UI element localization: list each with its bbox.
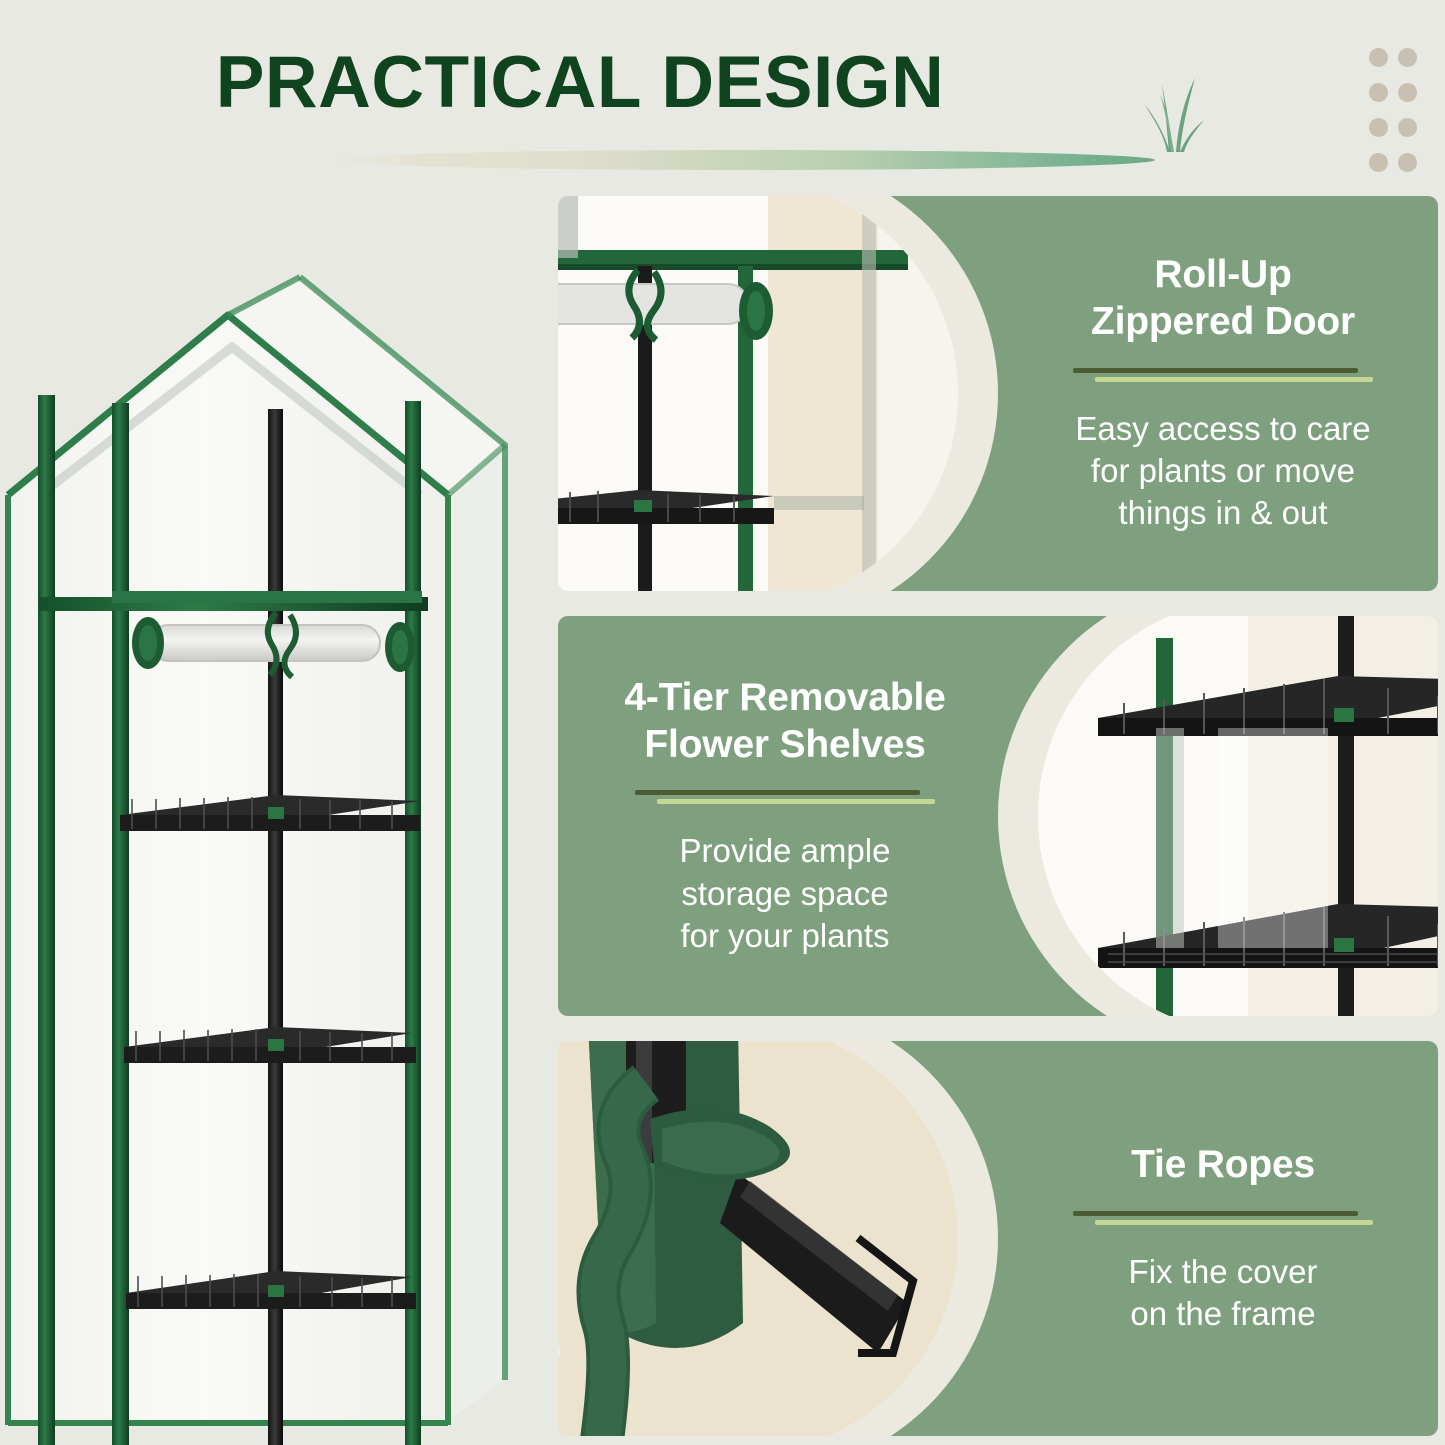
image-clip xyxy=(558,1041,958,1436)
divider-line-dark xyxy=(1073,1211,1358,1216)
card-heading: 4-Tier Removable Flower Shelves xyxy=(624,675,945,769)
feature-card-tie-ropes[interactable]: Tie Ropes Fix the cover on the frame xyxy=(558,1041,1438,1436)
divider-line-light xyxy=(1095,377,1373,382)
divider-line-dark xyxy=(1073,368,1358,373)
feature-card-roll-up-zippered-door[interactable]: Roll-Up Zippered Door Easy access to car… xyxy=(558,196,1438,591)
card-heading-line2: Zippered Door xyxy=(1091,300,1355,343)
feature-card-4-tier-removable-flower-shelves[interactable]: 4-Tier Removable Flower Shelves Provide … xyxy=(558,616,1438,1016)
card-body: Fix the cover on the frame xyxy=(1129,1251,1318,1335)
card-body-line1: Provide ample xyxy=(680,832,891,869)
dot-grid-decoration xyxy=(1369,48,1427,188)
card-body-line1: Fix the cover xyxy=(1129,1253,1318,1290)
feature-text-4-tier-removable-flower-shelves: 4-Tier Removable Flower Shelves Provide … xyxy=(576,616,994,1016)
card-heading: Tie Ropes xyxy=(1131,1142,1315,1189)
divider-line-light xyxy=(657,799,935,804)
card-body-line2: for plants or move xyxy=(1091,452,1355,489)
feature-image-4-tier-removable-flower-shelves xyxy=(978,616,1438,1016)
card-body-line2: storage space xyxy=(681,875,888,912)
card-heading-line1: 4-Tier Removable xyxy=(624,676,945,719)
card-body: Provide ample storage space for your pla… xyxy=(680,830,891,957)
page-header: PRACTICAL DESIGN xyxy=(0,0,1445,190)
feature-text-roll-up-zippered-door: Roll-Up Zippered Door Easy access to car… xyxy=(1014,196,1432,591)
divider-line-light xyxy=(1095,1220,1373,1225)
image-clip xyxy=(558,196,958,591)
image-clip xyxy=(1038,616,1438,1016)
card-body-line3: things in & out xyxy=(1118,494,1327,531)
title-underline xyxy=(335,150,1155,170)
card-divider xyxy=(1073,1211,1373,1225)
card-body-line2: on the frame xyxy=(1130,1295,1315,1332)
card-heading-line1: Tie Ropes xyxy=(1131,1143,1315,1186)
card-body-line3: for your plants xyxy=(680,917,889,954)
card-heading-line1: Roll-Up xyxy=(1154,253,1291,296)
card-heading: Roll-Up Zippered Door xyxy=(1091,252,1355,346)
mini-greenhouse-product-photo xyxy=(0,195,545,1445)
feature-image-tie-ropes xyxy=(558,1041,1018,1436)
divider-line-dark xyxy=(635,790,920,795)
card-body: Easy access to care for plants or move t… xyxy=(1075,408,1370,535)
page-title: PRACTICAL DESIGN xyxy=(0,46,1160,119)
card-divider xyxy=(635,790,935,804)
feature-card-list: Roll-Up Zippered Door Easy access to car… xyxy=(558,196,1438,1436)
feature-text-tie-ropes: Tie Ropes Fix the cover on the frame xyxy=(1014,1041,1432,1436)
card-body-line1: Easy access to care xyxy=(1075,410,1370,447)
card-heading-line2: Flower Shelves xyxy=(644,723,925,766)
card-divider xyxy=(1073,368,1373,382)
grass-icon xyxy=(1140,60,1210,155)
feature-image-roll-up-zippered-door xyxy=(558,196,1018,591)
